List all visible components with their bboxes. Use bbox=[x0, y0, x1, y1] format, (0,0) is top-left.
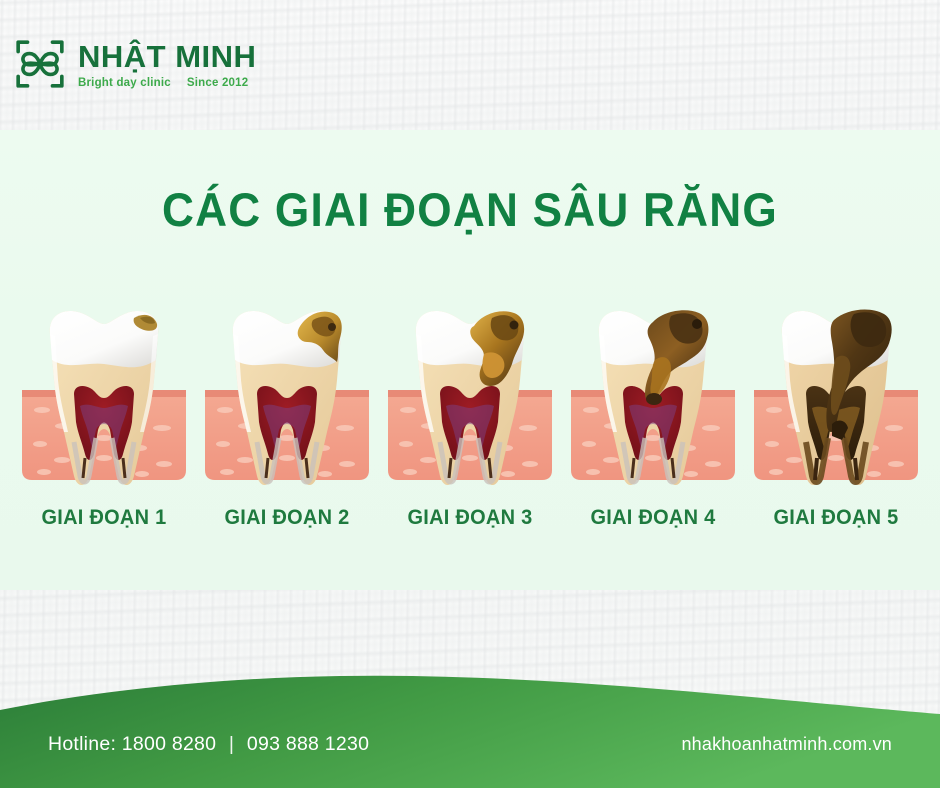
stage-item-1: GIAI ĐOẠN 1 bbox=[18, 298, 190, 530]
tooth-stage-4-icon bbox=[567, 298, 739, 498]
hotline-primary[interactable]: 1800 8280 bbox=[122, 733, 216, 755]
tooth-stage-5-icon bbox=[750, 298, 922, 498]
stage-item-5: GIAI ĐOẠN 5 bbox=[750, 298, 922, 530]
footer-contact-bar: Hotline: 1800 8280 | 093 888 1230 nhakho… bbox=[0, 706, 940, 788]
page-title: CÁC GIAI ĐOẠN SÂU RĂNG bbox=[28, 182, 912, 237]
stage-item-3: GIAI ĐOẠN 3 bbox=[384, 298, 556, 530]
tooth-flower-logo-icon bbox=[14, 38, 66, 90]
stage-label-5: GIAI ĐOẠN 5 bbox=[754, 506, 917, 530]
tooth-stage-3-icon bbox=[384, 298, 556, 498]
website-link[interactable]: nhakhoanhatminh.com.vn bbox=[681, 734, 892, 755]
hotline-separator: | bbox=[222, 733, 241, 755]
brand-name: NHẬT MINH bbox=[78, 41, 256, 73]
stage-label-4: GIAI ĐOẠN 4 bbox=[571, 506, 734, 530]
stage-item-4: GIAI ĐOẠN 4 bbox=[567, 298, 739, 530]
stage-item-2: GIAI ĐOẠN 2 bbox=[201, 298, 373, 530]
hotline-block: Hotline: 1800 8280 | 093 888 1230 bbox=[48, 733, 369, 756]
poster-root: NHẬT MINH Bright day clinic Since 2012 C… bbox=[0, 0, 940, 788]
stage-label-3: GIAI ĐOẠN 3 bbox=[388, 506, 551, 530]
stage-label-2: GIAI ĐOẠN 2 bbox=[205, 506, 368, 530]
brand-header: NHẬT MINH Bright day clinic Since 2012 bbox=[0, 0, 940, 130]
tooth-stage-1-icon bbox=[18, 298, 190, 498]
stages-row: GIAI ĐOẠN 1 bbox=[0, 298, 940, 530]
tooth-stage-2-icon bbox=[201, 298, 373, 498]
brand-since: Since 2012 bbox=[187, 77, 248, 89]
hotline-secondary[interactable]: 093 888 1230 bbox=[247, 733, 369, 755]
stage-label-1: GIAI ĐOẠN 1 bbox=[22, 506, 185, 530]
hotline-label: Hotline: bbox=[48, 733, 116, 755]
poster-panel: CÁC GIAI ĐOẠN SÂU RĂNG bbox=[0, 130, 940, 590]
brand-tagline-row: Bright day clinic Since 2012 bbox=[78, 77, 256, 89]
brand-tagline: Bright day clinic bbox=[78, 77, 171, 89]
